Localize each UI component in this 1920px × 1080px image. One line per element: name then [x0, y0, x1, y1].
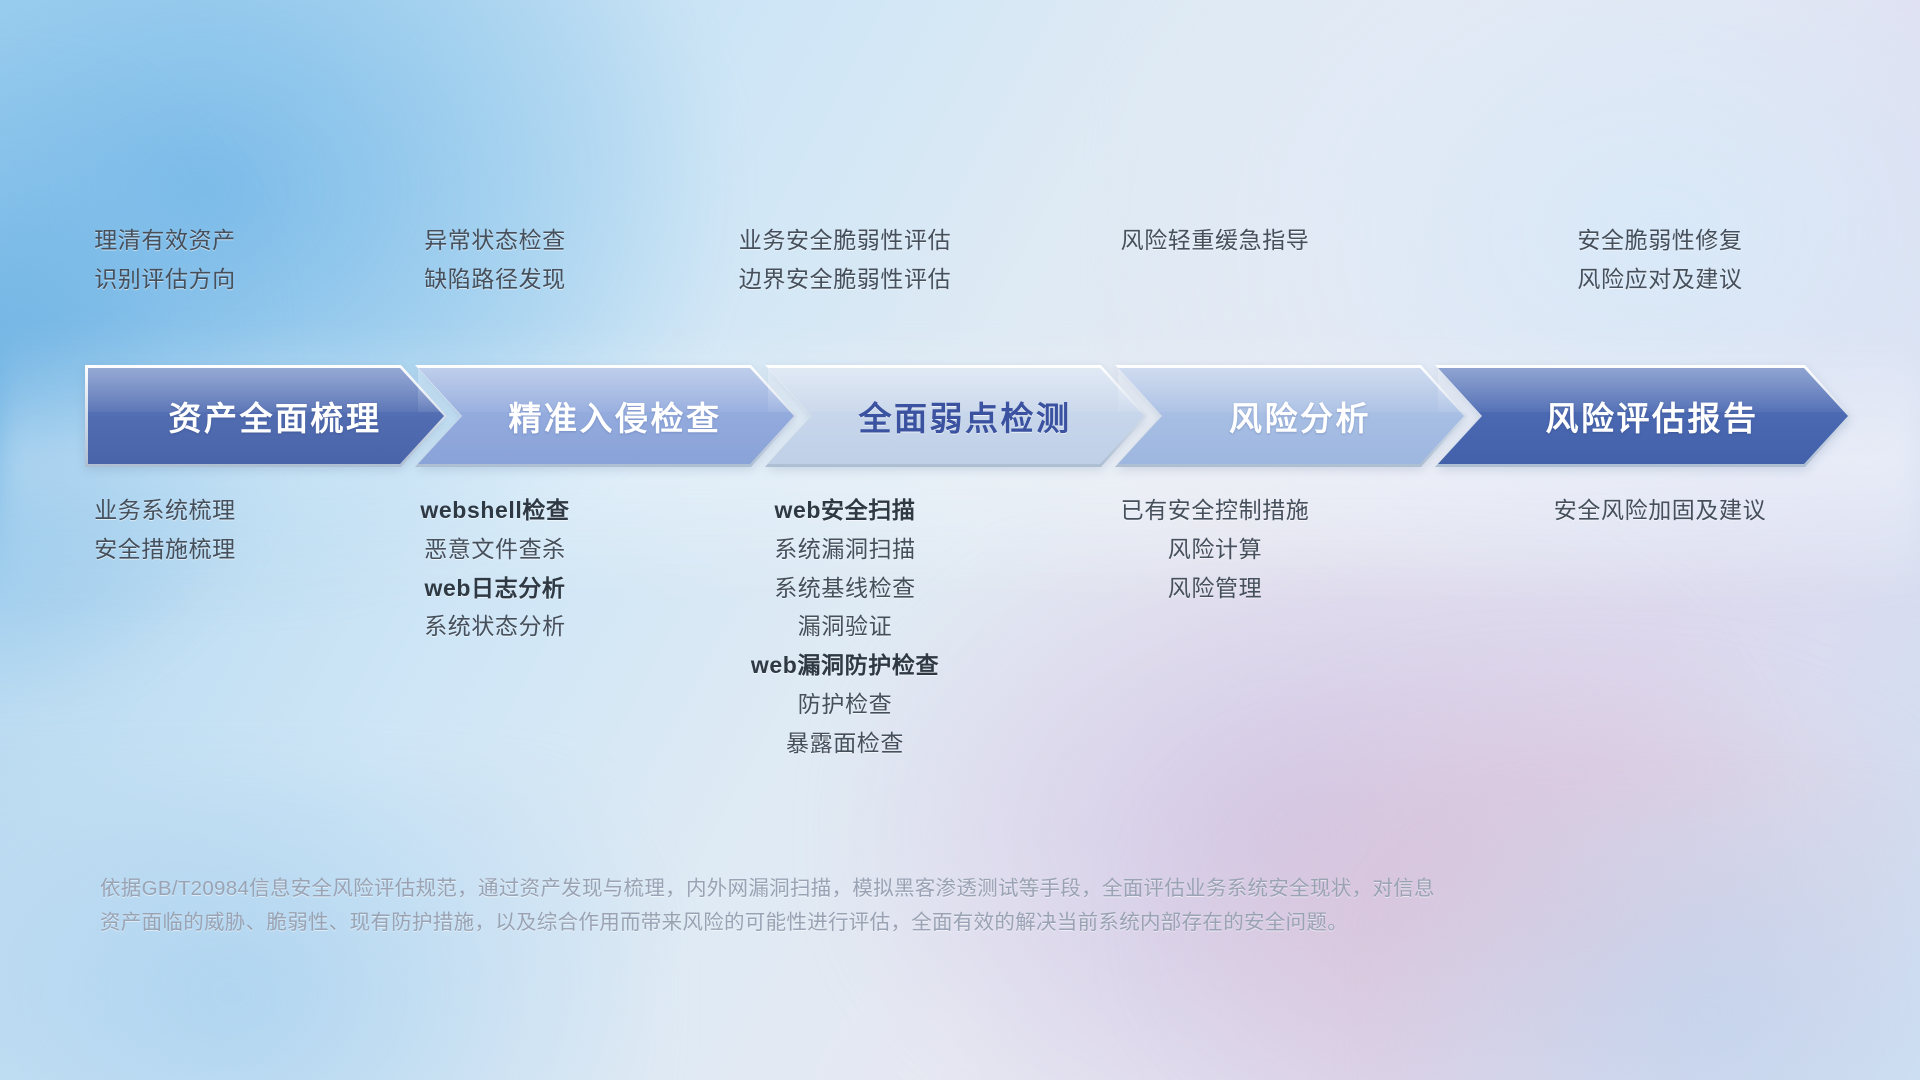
bottom-captions-step-5: 安全风险加固及建议	[1400, 498, 1920, 838]
bottom-caption-item: web日志分析	[425, 576, 566, 601]
bottom-caption-item: web漏洞防护检查	[751, 653, 939, 678]
chevron-label-step-3: 全面弱点检测	[768, 392, 1144, 440]
top-caption-item: 缺陷路径发现	[424, 267, 566, 292]
bottom-caption-item: webshell检查	[420, 498, 569, 523]
chevron-step-5[interactable]: 风险评估报告	[1438, 368, 1848, 464]
bottom-captions-step-2: webshell检查 恶意文件查杀 web日志分析 系统状态分析	[330, 498, 660, 838]
chevron-step-4[interactable]: 风险分析	[1118, 368, 1464, 464]
bottom-caption-item: 暴露面检查	[786, 731, 904, 756]
top-caption-item: 识别评估方向	[94, 267, 236, 292]
bottom-caption-item: 业务系统梳理	[94, 498, 236, 523]
footer-line-2: 资产面临的威胁、脆弱性、现有防护措施，以及综合作用而带来风险的可能性进行评估，全…	[100, 906, 1660, 940]
process-chevron-banner: 资产全面梳理 精准入侵检查 全面弱点检测 风险分析 风险评估报告	[88, 368, 1848, 464]
top-captions-step-5: 安全脆弱性修复 风险应对及建议	[1400, 228, 1920, 338]
top-captions-step-4: 风险轻重缓急指导	[1030, 228, 1400, 338]
chevron-label-step-2: 精准入侵检查	[418, 392, 794, 440]
chevron-label-step-5: 风险评估报告	[1438, 392, 1848, 440]
bottom-caption-item: 系统漏洞扫描	[774, 537, 916, 562]
chevron-step-2[interactable]: 精准入侵检查	[418, 368, 794, 464]
bottom-captions-step-4: 已有安全控制措施 风险计算 风险管理	[1030, 498, 1400, 838]
chevron-label-step-1: 资产全面梳理	[88, 392, 444, 440]
bottom-captions-row: 业务系统梳理 安全措施梳理 webshell检查 恶意文件查杀 web日志分析 …	[0, 498, 1920, 838]
chevron-step-1[interactable]: 资产全面梳理	[88, 368, 444, 464]
chevron-label-step-4: 风险分析	[1118, 392, 1464, 440]
top-captions-row: 理清有效资产 识别评估方向 异常状态检查 缺陷路径发现 业务安全脆弱性评估 边界…	[0, 228, 1920, 338]
bottom-caption-item: 已有安全控制措施	[1121, 498, 1310, 523]
top-caption-item: 安全脆弱性修复	[1577, 228, 1742, 253]
top-caption-item: 边界安全脆弱性评估	[739, 267, 951, 292]
bottom-caption-item: 风险管理	[1168, 576, 1262, 601]
bottom-caption-item: 恶意文件查杀	[424, 537, 566, 562]
footer-line-1: 依据GB/T20984信息安全风险评估规范，通过资产发现与梳理，内外网漏洞扫描，…	[100, 872, 1660, 906]
footer-description: 依据GB/T20984信息安全风险评估规范，通过资产发现与梳理，内外网漏洞扫描，…	[100, 872, 1660, 940]
bottom-caption-item: web安全扫描	[775, 498, 916, 523]
top-caption-item: 理清有效资产	[94, 228, 236, 253]
top-captions-step-3: 业务安全脆弱性评估 边界安全脆弱性评估	[660, 228, 1030, 338]
top-captions-step-2: 异常状态检查 缺陷路径发现	[330, 228, 660, 338]
bottom-caption-item: 安全措施梳理	[94, 537, 236, 562]
bottom-caption-item: 系统基线检查	[774, 576, 916, 601]
top-caption-item: 业务安全脆弱性评估	[739, 228, 951, 253]
bottom-caption-item: 风险计算	[1168, 537, 1262, 562]
chevron-step-3[interactable]: 全面弱点检测	[768, 368, 1144, 464]
bottom-caption-item: 漏洞验证	[798, 614, 892, 639]
bottom-captions-step-1: 业务系统梳理 安全措施梳理	[0, 498, 330, 838]
process-diagram: 理清有效资产 识别评估方向 异常状态检查 缺陷路径发现 业务安全脆弱性评估 边界…	[0, 0, 1920, 1080]
top-caption-item: 风险应对及建议	[1577, 267, 1742, 292]
top-caption-item: 风险轻重缓急指导	[1121, 228, 1310, 253]
top-captions-step-1: 理清有效资产 识别评估方向	[0, 228, 330, 338]
bottom-caption-item: 安全风险加固及建议	[1554, 498, 1766, 523]
bottom-captions-step-3: web安全扫描 系统漏洞扫描 系统基线检查 漏洞验证 web漏洞防护检查 防护检…	[660, 498, 1030, 838]
top-caption-item: 异常状态检查	[424, 228, 566, 253]
bottom-caption-item: 系统状态分析	[424, 614, 566, 639]
bottom-caption-item: 防护检查	[798, 692, 892, 717]
